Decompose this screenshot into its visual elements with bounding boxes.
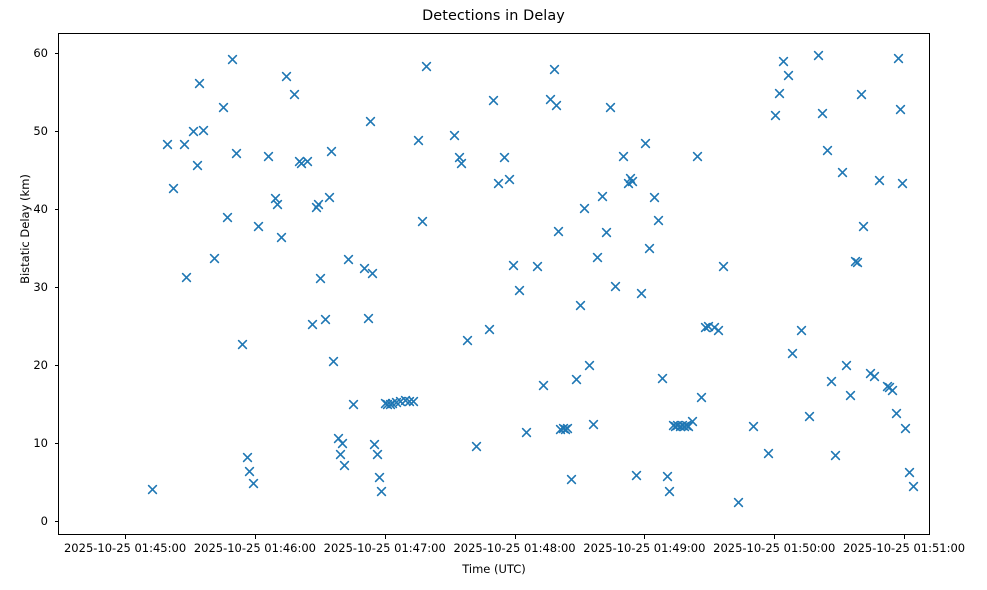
scatter-point <box>248 478 259 489</box>
scatter-point <box>679 421 690 432</box>
scatter-point <box>908 481 919 492</box>
y-tick <box>55 443 59 444</box>
scatter-point <box>404 396 415 407</box>
scatter-point <box>677 420 688 431</box>
scatter-point <box>328 356 339 367</box>
scatter-point <box>605 102 616 113</box>
scatter-point <box>198 125 209 136</box>
scatter-point <box>320 314 331 325</box>
scatter-point <box>670 421 681 432</box>
scatter-points-layer <box>59 34 929 534</box>
scatter-point <box>270 193 281 204</box>
x-tick-label: 2025-10-25 01:45:00 <box>64 541 186 555</box>
scatter-point <box>315 273 326 284</box>
y-tick <box>55 521 59 522</box>
y-tick-label: 10 <box>0 436 48 450</box>
scatter-point <box>296 158 307 169</box>
y-tick-label: 0 <box>0 514 48 528</box>
scatter-point <box>778 56 789 67</box>
scatter-point <box>822 145 833 156</box>
scatter-point <box>343 254 354 265</box>
scatter-point <box>891 408 902 419</box>
scatter-point <box>313 199 324 210</box>
scatter-point <box>549 64 560 75</box>
scatter-point <box>700 322 711 333</box>
scatter-point <box>231 148 242 159</box>
scatter-point <box>627 176 638 187</box>
scatter-point <box>209 253 220 264</box>
scatter-point <box>514 285 525 296</box>
scatter-point <box>162 139 173 150</box>
scatter-point <box>253 221 264 232</box>
scatter-point <box>545 94 556 105</box>
y-tick-label: 20 <box>0 358 48 372</box>
scatter-point <box>631 470 642 481</box>
x-tick-label: 2025-10-25 01:49:00 <box>583 541 705 555</box>
scatter-point <box>359 263 370 274</box>
y-tick <box>55 131 59 132</box>
scatter-point <box>869 371 880 382</box>
scatter-point <box>493 178 504 189</box>
scatter-point <box>179 139 190 150</box>
scatter-point <box>551 100 562 111</box>
scatter-point <box>532 261 543 272</box>
scatter-point <box>904 467 915 478</box>
scatter-point <box>636 288 647 299</box>
scatter-point <box>804 411 815 422</box>
scatter-point <box>400 395 411 406</box>
x-tick-label: 2025-10-25 01:48:00 <box>453 541 575 555</box>
y-tick <box>55 287 59 288</box>
scatter-point <box>372 449 383 460</box>
scatter-point <box>376 486 387 497</box>
scatter-point <box>367 268 378 279</box>
scatter-point <box>588 419 599 430</box>
scatter-point <box>281 71 292 82</box>
scatter-point <box>664 486 675 497</box>
x-tick <box>515 535 516 539</box>
scatter-point <box>770 110 781 121</box>
scatter-point <box>610 281 621 292</box>
scatter-point <box>856 89 867 100</box>
scatter-point <box>380 398 391 409</box>
scatter-point <box>484 324 495 335</box>
scatter-point <box>337 438 348 449</box>
scatter-point <box>703 321 714 332</box>
scatter-point <box>852 257 863 268</box>
scatter-point <box>263 151 274 162</box>
scatter-point <box>222 212 233 223</box>
scatter-point <box>417 216 428 227</box>
scatter-point <box>391 397 402 408</box>
scatter-point <box>895 104 906 115</box>
scatter-point <box>333 433 344 444</box>
scatter-point <box>668 420 679 431</box>
scatter-point <box>657 373 668 384</box>
x-tick-label: 2025-10-25 01:46:00 <box>194 541 316 555</box>
scatter-point <box>618 151 629 162</box>
scatter-point <box>192 160 203 171</box>
x-tick <box>125 535 126 539</box>
scatter-point <box>369 439 380 450</box>
figure-canvas: Detections in Delay 2025-10-25 01:45:002… <box>0 0 987 590</box>
scatter-point <box>462 335 473 346</box>
scatter-point <box>560 424 571 435</box>
scatter-point <box>421 61 432 72</box>
scatter-point <box>644 243 655 254</box>
y-tick-label: 60 <box>0 46 48 60</box>
scatter-point <box>242 452 253 463</box>
scatter-point <box>687 416 698 427</box>
scatter-point <box>382 399 393 410</box>
scatter-point <box>865 368 876 379</box>
scatter-point <box>311 202 322 213</box>
scatter-point <box>508 260 519 271</box>
scatter-point <box>521 427 532 438</box>
scatter-point <box>653 215 664 226</box>
scatter-point <box>850 256 861 267</box>
scatter-point <box>623 178 634 189</box>
scatter-point <box>597 191 608 202</box>
x-tick <box>904 535 905 539</box>
scatter-point <box>841 360 852 371</box>
scatter-point <box>339 460 350 471</box>
y-tick <box>55 209 59 210</box>
scatter-point <box>713 325 724 336</box>
scatter-point <box>276 232 287 243</box>
scatter-point <box>194 78 205 89</box>
scatter-point <box>681 420 692 431</box>
x-tick <box>644 535 645 539</box>
scatter-point <box>887 385 898 396</box>
scatter-point <box>553 226 564 237</box>
scatter-point <box>672 420 683 431</box>
scatter-point <box>324 192 335 203</box>
scatter-point <box>408 396 419 407</box>
scatter-point <box>874 175 885 186</box>
scatter-point <box>558 423 569 434</box>
scatter-point <box>709 322 720 333</box>
scatter-point <box>488 95 499 106</box>
scatter-point <box>649 192 660 203</box>
scatter-point <box>456 158 467 169</box>
x-tick-label: 2025-10-25 01:47:00 <box>324 541 446 555</box>
scatter-point <box>783 70 794 81</box>
scatter-point <box>227 54 238 65</box>
scatter-point <box>335 449 346 460</box>
scatter-point <box>566 474 577 485</box>
scatter-point <box>449 130 460 141</box>
scatter-point <box>504 174 515 185</box>
scatter-point <box>858 221 869 232</box>
scatter-point <box>662 471 673 482</box>
scatter-point <box>365 116 376 127</box>
scatter-point <box>584 360 595 371</box>
scatter-point <box>499 152 510 163</box>
scatter-point <box>413 135 424 146</box>
scatter-point <box>348 399 359 410</box>
scatter-point <box>272 199 283 210</box>
scatter-point <box>374 472 385 483</box>
scatter-point <box>830 450 841 461</box>
y-tick <box>55 53 59 54</box>
y-axis-label: Bistatic Delay (km) <box>18 99 32 359</box>
scatter-point <box>774 88 785 99</box>
scatter-point <box>696 392 707 403</box>
scatter-point <box>387 398 398 409</box>
scatter-point <box>454 152 465 163</box>
scatter-point <box>218 102 229 113</box>
scatter-point <box>748 421 759 432</box>
x-axis-label: Time (UTC) <box>58 562 930 576</box>
scatter-point <box>796 325 807 336</box>
scatter-point <box>692 151 703 162</box>
scatter-point <box>893 53 904 64</box>
scatter-point <box>188 126 199 137</box>
x-tick <box>385 535 386 539</box>
scatter-point <box>538 380 549 391</box>
x-tick <box>774 535 775 539</box>
scatter-point <box>302 156 313 167</box>
scatter-point <box>168 183 179 194</box>
scatter-point <box>471 441 482 452</box>
scatter-point <box>181 272 192 283</box>
scatter-point <box>294 156 305 167</box>
scatter-point <box>237 339 248 350</box>
scatter-point <box>571 374 582 385</box>
scatter-point <box>244 466 255 477</box>
scatter-point <box>592 252 603 263</box>
scatter-point <box>845 390 856 401</box>
scatter-point <box>326 146 337 157</box>
scatter-point <box>900 423 911 434</box>
plot-area <box>58 33 930 535</box>
scatter-point <box>882 381 893 392</box>
chart-title: Detections in Delay <box>0 8 987 24</box>
scatter-point <box>555 424 566 435</box>
scatter-point <box>395 396 406 407</box>
scatter-point <box>813 50 824 61</box>
scatter-point <box>601 227 612 238</box>
scatter-point <box>837 167 848 178</box>
scatter-point <box>363 313 374 324</box>
scatter-point <box>575 300 586 311</box>
scatter-point <box>897 178 908 189</box>
scatter-point <box>826 376 837 387</box>
scatter-point <box>385 399 396 410</box>
x-tick <box>255 535 256 539</box>
scatter-point <box>579 203 590 214</box>
scatter-point <box>562 423 573 434</box>
scatter-point <box>640 138 651 149</box>
scatter-point <box>147 484 158 495</box>
scatter-point <box>718 261 729 272</box>
scatter-point <box>307 319 318 330</box>
scatter-point <box>625 173 636 184</box>
scatter-point <box>683 421 694 432</box>
scatter-point <box>787 348 798 359</box>
x-tick-label: 2025-10-25 01:50:00 <box>713 541 835 555</box>
x-tick-label: 2025-10-25 01:51:00 <box>843 541 965 555</box>
scatter-point <box>289 89 300 100</box>
y-tick <box>55 365 59 366</box>
scatter-point <box>884 382 895 393</box>
scatter-point <box>675 421 686 432</box>
scatter-point <box>763 448 774 459</box>
scatter-point <box>817 108 828 119</box>
scatter-point <box>733 497 744 508</box>
